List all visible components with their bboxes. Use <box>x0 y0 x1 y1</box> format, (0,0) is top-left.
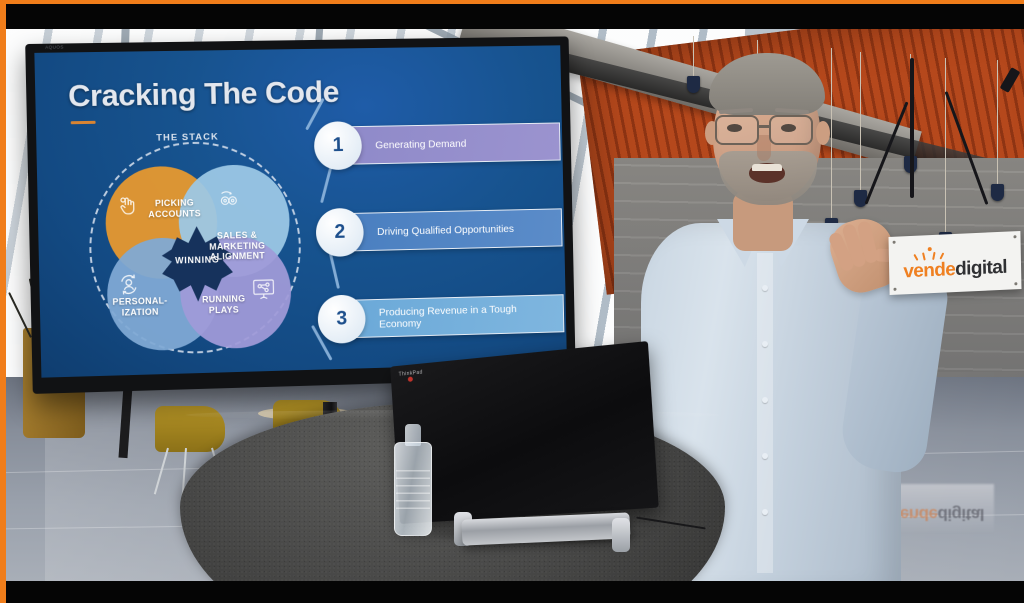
letterbox-bar-top <box>5 3 1024 29</box>
accent-border-left <box>0 0 6 603</box>
presenter-shirt-placket <box>757 253 773 573</box>
list-item-text: Generating Demand <box>375 137 466 151</box>
pendant-cord <box>997 60 998 186</box>
list-item[interactable]: Driving Qualified Opportunities 2 <box>312 203 567 264</box>
list-item-bar[interactable]: Producing Revenue in a Tough Economy <box>351 294 565 338</box>
venn-label-running-plays: RUNNING PLAYS <box>188 293 259 316</box>
shirt-button <box>762 285 768 291</box>
list-item[interactable]: Producing Revenue in a Tough Economy 3 <box>314 289 567 351</box>
venn-label-personalization: PERSONAL- IZATION <box>99 295 180 318</box>
presenter-hair <box>709 53 825 115</box>
list-item[interactable]: Generating Demand 1 <box>310 117 567 177</box>
user-refresh-icon <box>117 272 141 296</box>
sign-screw <box>1013 235 1016 238</box>
shirt-button <box>762 509 768 515</box>
list-item-text: Producing Revenue in a Tough Economy <box>379 302 556 330</box>
display-brand-label: AQUOS <box>45 44 64 49</box>
slide-canvas: Cracking The Code THE STACK <box>34 45 567 377</box>
accent-border-top <box>0 0 1024 4</box>
water-bottle <box>394 424 432 536</box>
pendant-cone-icon <box>991 184 1004 201</box>
bottle-ribs <box>396 464 430 510</box>
eyeglasses-lens <box>769 115 813 145</box>
list-item-bar[interactable]: Driving Qualified Opportunities <box>349 208 563 251</box>
presentation-display[interactable]: AQUOS Cracking The Code THE STACK <box>25 36 576 394</box>
list-item-bar[interactable]: Generating Demand <box>347 122 561 164</box>
laptop-logo-dot-icon <box>408 376 413 381</box>
letterbox-bar-bottom <box>5 581 1024 603</box>
laptop[interactable]: ThinkPad <box>400 366 668 556</box>
reflection-brand-part-2: digital <box>937 505 984 524</box>
the-stack-diagram: THE STACK <box>74 130 315 369</box>
laptop-stand-cap <box>612 518 630 552</box>
brand-logo: vendedigital <box>903 244 1007 283</box>
shirt-button <box>762 341 768 347</box>
gears-icon <box>216 189 240 211</box>
presenter-teeth <box>752 164 782 171</box>
eyeglasses-lens <box>715 115 759 145</box>
presenter-ear <box>816 121 830 145</box>
room-scene: vendedigital AQUOS Cracking The Code <box>5 28 1024 582</box>
venn-label-sales-marketing-alignment: SALES & MARKETING ALIGNMENT <box>197 229 278 262</box>
video-frame: vendedigital AQUOS Cracking The Code <box>0 0 1024 603</box>
slide-title: Cracking The Code <box>68 74 340 114</box>
title-accent-rule <box>71 121 96 125</box>
shirt-button <box>762 453 768 459</box>
pendant-cord <box>945 58 946 234</box>
sign-screw <box>893 288 896 291</box>
eyeglasses-bridge <box>759 125 771 128</box>
shirt-button <box>762 397 768 403</box>
brand-sign: vendedigital <box>889 231 1022 295</box>
sign-screw <box>1014 282 1017 285</box>
numbered-points-list: Generating Demand 1 Driving Qualified Op… <box>309 104 566 365</box>
venn-label-picking-accounts: PICKING ACCOUNTS <box>133 197 216 220</box>
sign-screw <box>893 241 896 244</box>
list-item-text: Driving Qualified Opportunities <box>377 223 514 238</box>
